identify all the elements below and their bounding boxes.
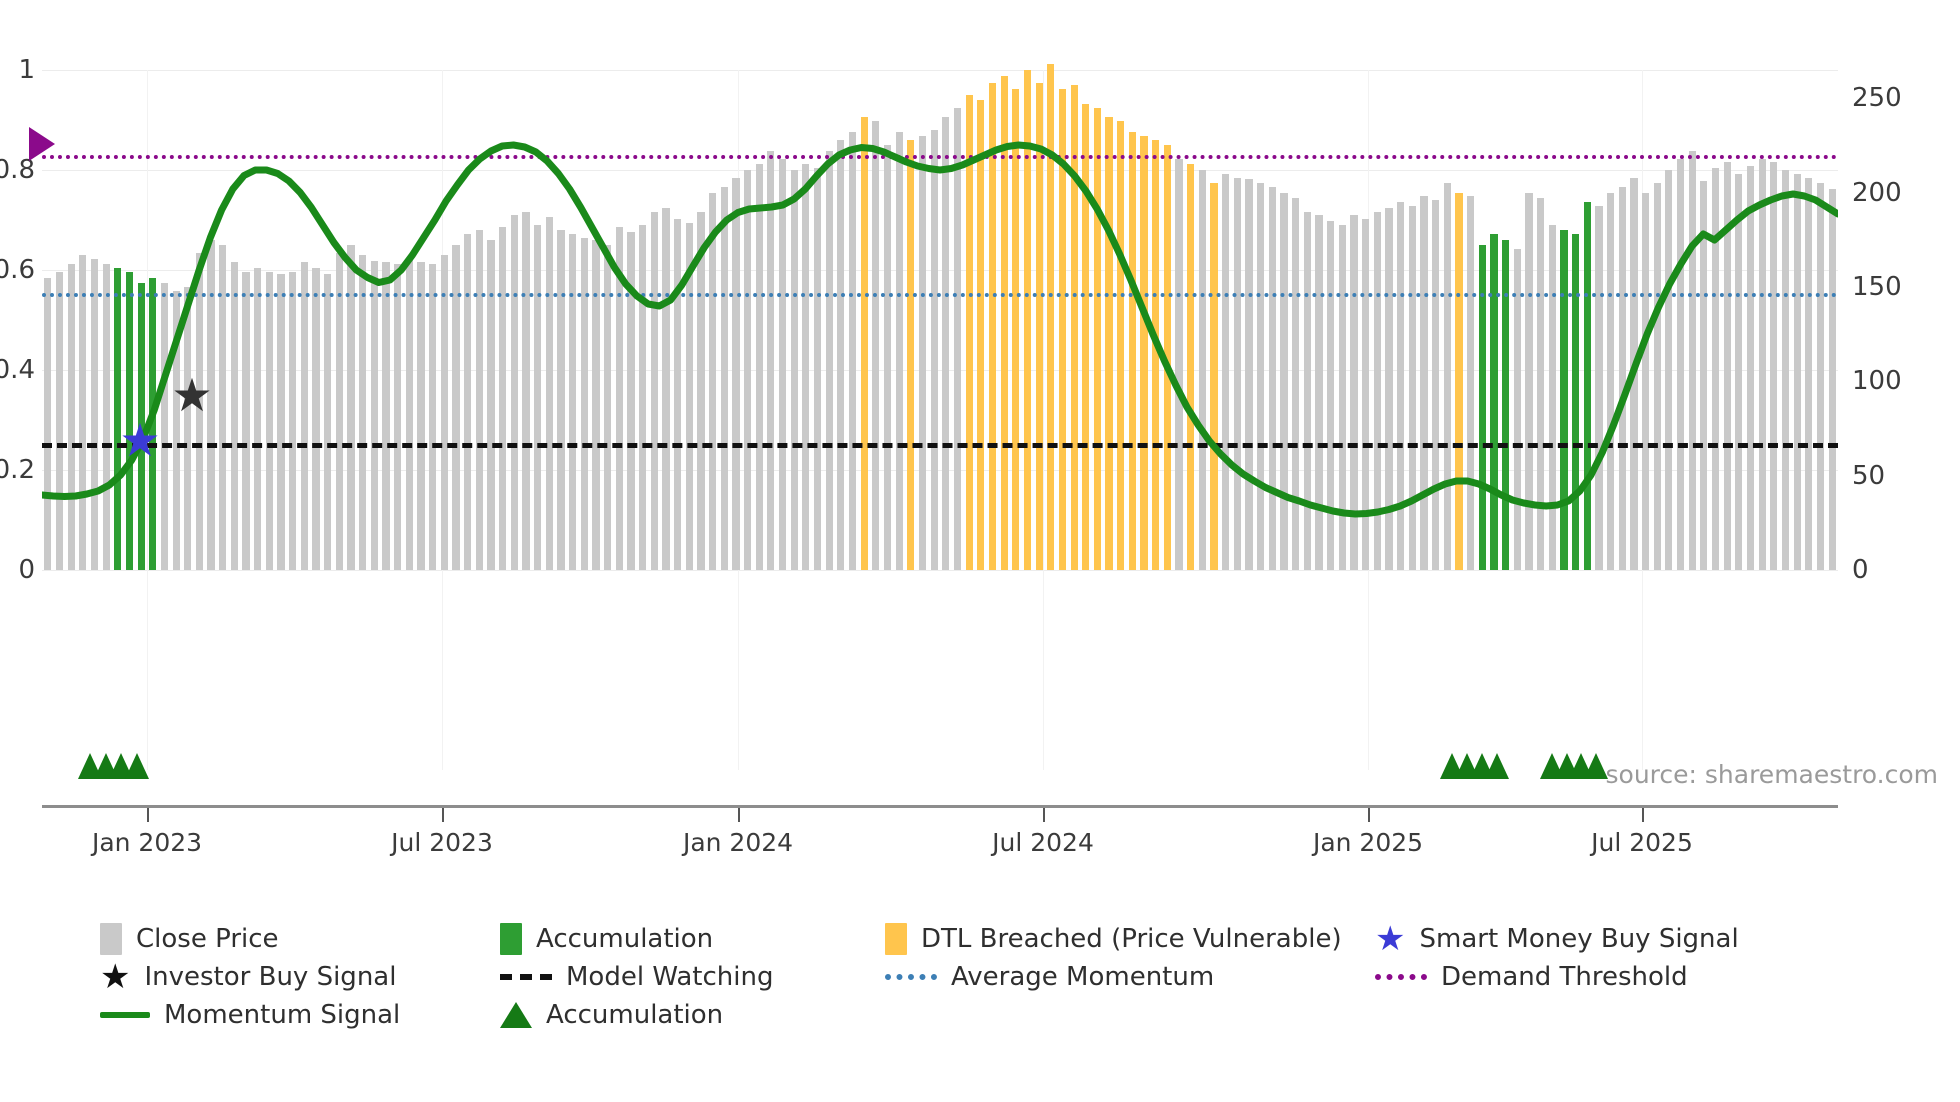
- close-price-bar: [406, 259, 413, 570]
- close-price-bar: [1327, 221, 1334, 570]
- close-price-bar: [1245, 179, 1252, 570]
- left-axis-tick-label: 0.6: [0, 255, 35, 285]
- close-price-bar: [68, 264, 75, 570]
- close-price-bar: [511, 215, 518, 570]
- close-price-bar: [1654, 183, 1661, 570]
- close-price-bar: [476, 230, 483, 570]
- x-axis-tick: [442, 808, 444, 822]
- legend-momentum-signal[interactable]: Momentum Signal: [100, 1000, 500, 1030]
- close-price-bar: [744, 170, 751, 570]
- legend-model-watching[interactable]: Model Watching: [500, 962, 885, 992]
- close-price-bar: [756, 164, 763, 570]
- close-price-bar: [1292, 198, 1299, 570]
- dtl-breached-bar: [1164, 145, 1171, 570]
- close-price-bar: [1770, 162, 1777, 570]
- dtl-breached-bar: [1455, 193, 1462, 570]
- close-price-bar: [1549, 225, 1556, 570]
- threshold-line-model-watching: [42, 443, 1838, 448]
- close-price-bar: [359, 255, 366, 570]
- close-price-bar: [429, 264, 436, 570]
- accumulation-triangle-cluster: [78, 745, 140, 779]
- dtl-breached-bar: [1187, 164, 1194, 570]
- close-price-bar: [242, 272, 249, 570]
- close-price-bar: [1222, 174, 1229, 570]
- close-price-bar: [231, 262, 238, 570]
- close-price-bar: [802, 164, 809, 570]
- close-price-bar: [1677, 159, 1684, 570]
- legend-row: Momentum SignalAccumulation: [100, 996, 1900, 1034]
- close-price-bar: [161, 283, 168, 570]
- close-price-bar: [1362, 219, 1369, 570]
- close-price-bar: [931, 130, 938, 570]
- investor-buy-signal-star: ★: [171, 372, 212, 418]
- close-price-bar: [697, 212, 704, 570]
- close-price-bar: [499, 227, 506, 570]
- triangle-icon: [500, 1002, 532, 1028]
- smart-money-buy-signal-star: ★: [119, 417, 160, 463]
- close-price-bar: [662, 208, 669, 570]
- close-price-bar: [336, 253, 343, 570]
- x-axis-tick-label: Jul 2023: [391, 828, 493, 857]
- dtl-breached-bar: [861, 117, 868, 570]
- legend-demand-threshold[interactable]: Demand Threshold: [1375, 962, 1795, 992]
- close-price-bar: [1514, 249, 1521, 570]
- close-price-bar: [289, 272, 296, 570]
- legend-investor-buy[interactable]: ★Investor Buy Signal: [100, 960, 500, 994]
- close-price-bar: [1420, 196, 1427, 570]
- legend-label: Accumulation: [536, 924, 713, 954]
- close-price-bar: [301, 262, 308, 570]
- close-price-bar: [1817, 183, 1824, 570]
- left-axis-tick-label: 1: [18, 55, 35, 85]
- close-price-bar: [382, 262, 389, 570]
- right-axis-tick-label: 250: [1852, 83, 1902, 113]
- close-price-bar: [896, 132, 903, 570]
- close-price-bar: [1794, 174, 1801, 570]
- close-price-bar: [1782, 170, 1789, 570]
- close-price-bar: [1432, 200, 1439, 570]
- close-price-bar: [581, 238, 588, 570]
- x-axis-tick-label: Jan 2023: [92, 828, 202, 857]
- close-price-bar: [1759, 159, 1766, 570]
- legend-label: Smart Money Buy Signal: [1419, 924, 1738, 954]
- close-price-bar: [1829, 189, 1836, 570]
- legend-label: Model Watching: [566, 962, 773, 992]
- close-price-bar: [371, 261, 378, 570]
- close-price-bar: [884, 145, 891, 570]
- dtl-breached-bar: [1047, 64, 1054, 570]
- legend-accumulation-triangle[interactable]: Accumulation: [500, 1000, 885, 1030]
- star-icon: ★: [1375, 922, 1405, 956]
- right-axis-tick-label: 0: [1852, 555, 1869, 585]
- dtl-breached-bar: [1059, 89, 1066, 570]
- close-price-bar: [277, 274, 284, 570]
- close-price-bar: [441, 255, 448, 570]
- close-price-bar: [1257, 183, 1264, 570]
- close-price-bar: [1409, 206, 1416, 570]
- close-price-bar: [1175, 159, 1182, 570]
- close-price-bar: [919, 136, 926, 570]
- x-axis-tick: [738, 808, 740, 822]
- legend-accumulation-bar[interactable]: Accumulation: [500, 923, 885, 955]
- x-axis-tick-label: Jan 2024: [683, 828, 793, 857]
- close-price-bar: [394, 264, 401, 570]
- close-price-bar: [522, 212, 529, 570]
- legend-row: ★Investor Buy SignalModel WatchingAverag…: [100, 958, 1900, 996]
- close-price-bar: [814, 168, 821, 570]
- right-axis-tick-label: 150: [1852, 272, 1902, 302]
- dtl-breached-bar: [1210, 183, 1217, 570]
- legend-dtl-breached[interactable]: DTL Breached (Price Vulnerable): [885, 923, 1375, 955]
- right-axis-tick-label: 200: [1852, 178, 1902, 208]
- legend-swatch-rect: [885, 923, 907, 955]
- close-price-bar: [954, 108, 961, 570]
- close-price-bar: [627, 232, 634, 570]
- dtl-breached-bar: [1152, 140, 1159, 570]
- close-price-bar: [184, 287, 191, 570]
- dtl-breached-bar: [1024, 70, 1031, 570]
- close-price-bar: [709, 193, 716, 570]
- dtl-breached-bar: [1012, 89, 1019, 570]
- close-price-bar: [324, 274, 331, 570]
- gridline: [42, 570, 1838, 571]
- accumulation-bar: [1584, 202, 1591, 570]
- close-price-bar: [1525, 193, 1532, 570]
- close-price-bar: [534, 225, 541, 570]
- close-price-bar: [1724, 162, 1731, 570]
- close-price-bar: [849, 132, 856, 570]
- dtl-breached-bar: [1117, 121, 1124, 570]
- close-price-bar: [1700, 181, 1707, 570]
- dtl-breached-bar: [1140, 136, 1147, 570]
- x-axis-tick-label: Jan 2025: [1313, 828, 1423, 857]
- legend-label: Close Price: [136, 924, 279, 954]
- legend-swatch-rect: [500, 923, 522, 955]
- close-price-bar: [1595, 206, 1602, 570]
- left-axis-tick-label: 0: [18, 555, 35, 585]
- close-price-bar: [1665, 170, 1672, 570]
- close-price-bar: [1199, 170, 1206, 570]
- close-price-bar: [1304, 212, 1311, 570]
- accumulation-bar: [1490, 234, 1497, 570]
- close-price-bar: [1374, 212, 1381, 570]
- accumulation-triangle-icon: [1584, 753, 1608, 779]
- close-price-bar: [592, 240, 599, 570]
- close-price-bar: [1642, 193, 1649, 570]
- close-price-bar: [1269, 187, 1276, 570]
- close-price-bar: [266, 272, 273, 570]
- x-axis-tick-label: Jul 2025: [1591, 828, 1693, 857]
- legend-label: Investor Buy Signal: [144, 962, 396, 992]
- dtl-breached-bar: [966, 95, 973, 570]
- close-price-bar: [1689, 151, 1696, 570]
- close-price-bar: [557, 230, 564, 570]
- close-price-bar: [732, 178, 739, 570]
- close-price-bar: [651, 212, 658, 570]
- left-axis-tick-label: 0.2: [0, 455, 35, 485]
- x-axis-line: [42, 805, 1838, 808]
- close-price-bar: [464, 234, 471, 570]
- x-axis-tick-label: Jul 2024: [992, 828, 1094, 857]
- close-price-bar: [826, 151, 833, 570]
- close-price-bar: [254, 268, 261, 570]
- chart-root: 00.20.40.60.81 050100150200250 ★★ Jan 20…: [0, 0, 1960, 1102]
- source-attribution: source: sharemaestro.com: [1606, 760, 1939, 789]
- close-price-bar: [417, 262, 424, 570]
- x-axis-tick: [1368, 808, 1370, 822]
- close-price-bar: [686, 223, 693, 570]
- legend-label: Momentum Signal: [164, 1000, 400, 1030]
- close-price-bar: [44, 278, 51, 570]
- chart-legend: Close PriceAccumulationDTL Breached (Pri…: [100, 920, 1900, 1034]
- close-price-bar: [1280, 193, 1287, 570]
- legend-label: Demand Threshold: [1441, 962, 1688, 992]
- legend-label: DTL Breached (Price Vulnerable): [921, 924, 1342, 954]
- close-price-bar: [487, 240, 494, 570]
- accumulation-triangle-cluster: [1540, 745, 1598, 779]
- close-price-bar: [1619, 187, 1626, 570]
- threshold-line-average-momentum: [42, 293, 1838, 297]
- right-axis-tick-label: 100: [1852, 366, 1902, 396]
- accumulation-bar: [1572, 234, 1579, 570]
- legend-swatch-dashed: [500, 974, 552, 980]
- close-price-bar: [1385, 208, 1392, 570]
- legend-label: Average Momentum: [951, 962, 1214, 992]
- legend-swatch-line: [100, 1012, 150, 1018]
- close-price-bar: [721, 187, 728, 570]
- close-price-bar: [56, 272, 63, 570]
- close-price-bar: [639, 225, 646, 570]
- dtl-breached-bar: [1129, 132, 1136, 570]
- dtl-breached-bar: [1001, 76, 1008, 570]
- legend-average-momentum[interactable]: Average Momentum: [885, 962, 1375, 992]
- close-price-bar: [173, 291, 180, 570]
- dtl-breached-bar: [907, 140, 914, 570]
- close-price-bar: [872, 121, 879, 570]
- close-price-bar: [312, 268, 319, 570]
- legend-swatch-dotted: [1375, 974, 1427, 980]
- close-price-bar: [1712, 168, 1719, 570]
- close-price-bar: [79, 255, 86, 570]
- legend-smart-money-buy[interactable]: ★Smart Money Buy Signal: [1375, 922, 1795, 956]
- demand-threshold-marker: [29, 127, 55, 161]
- x-axis-tick: [1642, 808, 1644, 822]
- accumulation-triangle-icon: [1485, 753, 1509, 779]
- close-price-bar: [1444, 183, 1451, 570]
- close-price-bar: [1467, 196, 1474, 570]
- dtl-breached-bar: [1105, 117, 1112, 570]
- legend-row: Close PriceAccumulationDTL Breached (Pri…: [100, 920, 1900, 958]
- right-axis-tick-label: 50: [1852, 461, 1885, 491]
- bars-layer: [42, 70, 1838, 570]
- legend-close-price[interactable]: Close Price: [100, 923, 500, 955]
- close-price-bar: [103, 264, 110, 570]
- x-axis-tick: [147, 808, 149, 822]
- legend-swatch-rect: [100, 923, 122, 955]
- close-price-bar: [91, 259, 98, 570]
- close-price-bar: [546, 217, 553, 570]
- x-axis-tick: [1043, 808, 1045, 822]
- close-price-bar: [1537, 198, 1544, 570]
- dtl-breached-bar: [977, 100, 984, 570]
- close-price-bar: [1315, 215, 1322, 570]
- threshold-line-demand-threshold: [42, 155, 1838, 159]
- close-price-bar: [569, 234, 576, 570]
- star-icon: ★: [100, 960, 130, 994]
- close-price-bar: [1805, 178, 1812, 570]
- legend-label: Accumulation: [546, 1000, 723, 1030]
- accumulation-bar: [1560, 230, 1567, 570]
- close-price-bar: [1607, 193, 1614, 570]
- close-price-bar: [1747, 166, 1754, 570]
- close-price-bar: [1397, 202, 1404, 570]
- legend-swatch-dotted: [885, 974, 937, 980]
- close-price-bar: [779, 159, 786, 570]
- dtl-breached-bar: [1094, 108, 1101, 570]
- close-price-bar: [1735, 174, 1742, 570]
- left-axis-tick-label: 0.4: [0, 355, 35, 385]
- close-price-bar: [674, 219, 681, 570]
- accumulation-triangle-cluster: [1440, 745, 1500, 779]
- close-price-bar: [791, 170, 798, 570]
- dtl-breached-bar: [1082, 104, 1089, 570]
- close-price-bar: [1234, 178, 1241, 570]
- accumulation-triangle-icon: [125, 753, 149, 779]
- close-price-bar: [616, 227, 623, 570]
- close-price-bar: [1630, 178, 1637, 570]
- close-price-bar: [1339, 225, 1346, 570]
- close-price-bar: [767, 151, 774, 570]
- close-price-bar: [1350, 215, 1357, 570]
- accumulation-bar: [1502, 240, 1509, 570]
- close-price-bar: [837, 140, 844, 570]
- close-price-bar: [942, 117, 949, 570]
